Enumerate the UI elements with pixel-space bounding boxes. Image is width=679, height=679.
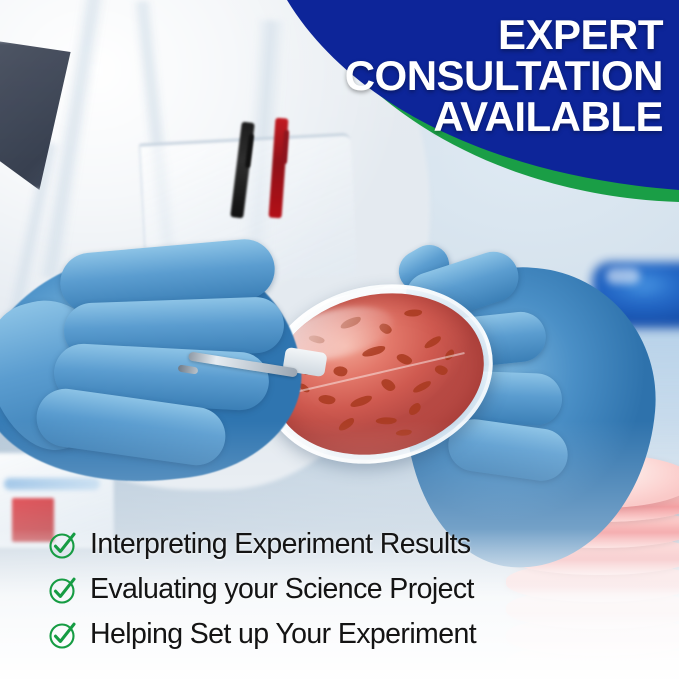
list-item-label: Interpreting Experiment Results <box>90 528 471 561</box>
list-item-label: Helping Set up Your Experiment <box>90 618 476 651</box>
bottle-highlight <box>606 268 640 284</box>
list-item: Helping Set up Your Experiment <box>48 612 608 657</box>
headline-line-3: AVAILABLE <box>345 96 663 137</box>
headline: EXPERT CONSULTATION AVAILABLE <box>345 14 663 137</box>
rack-slot <box>4 478 100 490</box>
promotional-banner: EXPERT CONSULTATION AVAILABLE Interpreti… <box>0 0 679 679</box>
feature-list: Interpreting Experiment Results Evaluati… <box>48 522 608 657</box>
headline-line-1: EXPERT <box>345 14 663 55</box>
check-circle-icon <box>48 620 78 650</box>
list-item-label: Evaluating your Science Project <box>90 573 474 606</box>
check-circle-icon <box>48 575 78 605</box>
list-item: Interpreting Experiment Results <box>48 522 608 567</box>
check-circle-icon <box>48 530 78 560</box>
list-item: Evaluating your Science Project <box>48 567 608 612</box>
headline-line-2: CONSULTATION <box>345 55 663 96</box>
